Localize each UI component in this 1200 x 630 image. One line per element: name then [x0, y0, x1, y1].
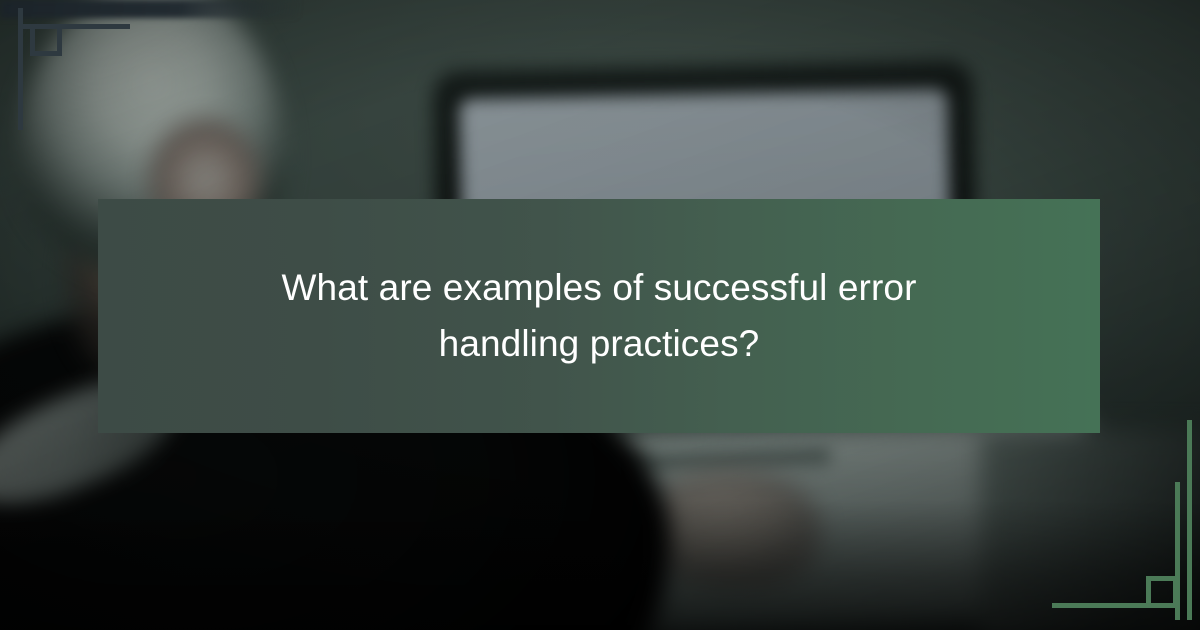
top-shadow-strip — [0, 0, 300, 18]
question-text: What are examples of successful error ha… — [249, 260, 949, 372]
bottom-shadow-gradient — [0, 500, 1200, 630]
question-card-canvas: What are examples of successful error ha… — [0, 0, 1200, 630]
question-overlay-card: What are examples of successful error ha… — [98, 199, 1100, 433]
